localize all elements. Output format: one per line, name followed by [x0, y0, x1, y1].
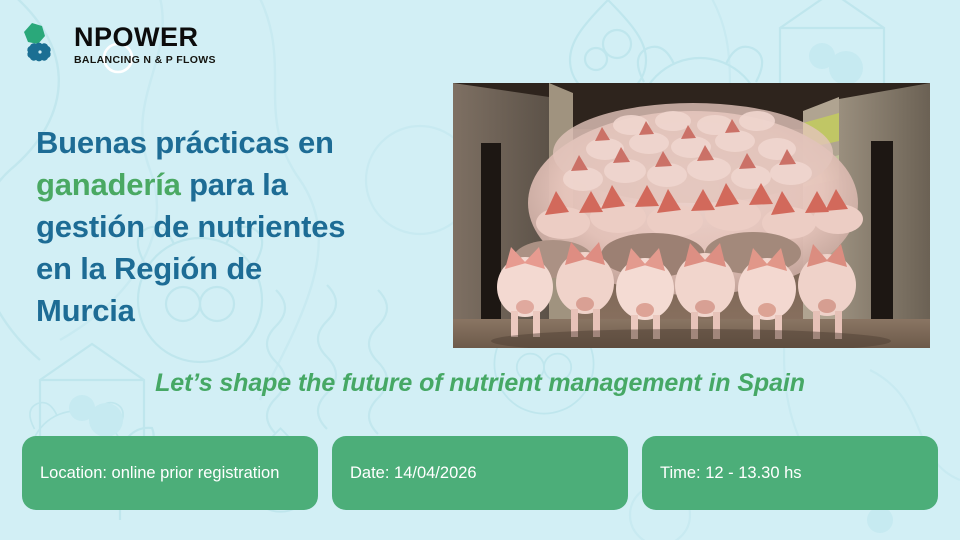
headline-line-3: gestión de nutrientes — [36, 209, 345, 244]
location-text: Location: online prior registration — [40, 461, 279, 485]
pigs-in-barn-photo — [453, 83, 930, 348]
event-tagline: Let’s shape the future of nutrient manag… — [0, 368, 960, 398]
headline-accent-word: ganadería — [36, 167, 181, 202]
circle-icon — [867, 507, 893, 533]
logo-name: NPOWER — [74, 24, 216, 51]
npower-logo-mark — [18, 18, 66, 70]
date-box: Date: 14/04/2026 — [332, 436, 628, 510]
page-title: Buenas prácticas en ganadería para la ge… — [36, 122, 436, 332]
headline-line-4: en la Región de — [36, 251, 262, 286]
headline-line-5: Murcia — [36, 293, 135, 328]
event-details-row: Location: online prior registration Date… — [22, 436, 938, 510]
headline-line-1: Buenas prácticas en — [36, 125, 334, 160]
location-box: Location: online prior registration — [22, 436, 318, 510]
npower-logo[interactable]: NPOWER BALANCING N & P FLOWS — [18, 18, 216, 70]
time-text: Time: 12 - 13.30 hs — [660, 461, 802, 485]
time-box: Time: 12 - 13.30 hs — [642, 436, 938, 510]
event-flyer-slide: NPOWER BALANCING N & P FLOWS Buenas prác… — [0, 0, 960, 540]
logo-wordmark: NPOWER BALANCING N & P FLOWS — [74, 24, 216, 67]
logo-tagline: BALANCING N & P FLOWS — [74, 53, 216, 67]
date-text: Date: 14/04/2026 — [350, 461, 477, 485]
headline-line-2-rest: para la — [181, 167, 288, 202]
